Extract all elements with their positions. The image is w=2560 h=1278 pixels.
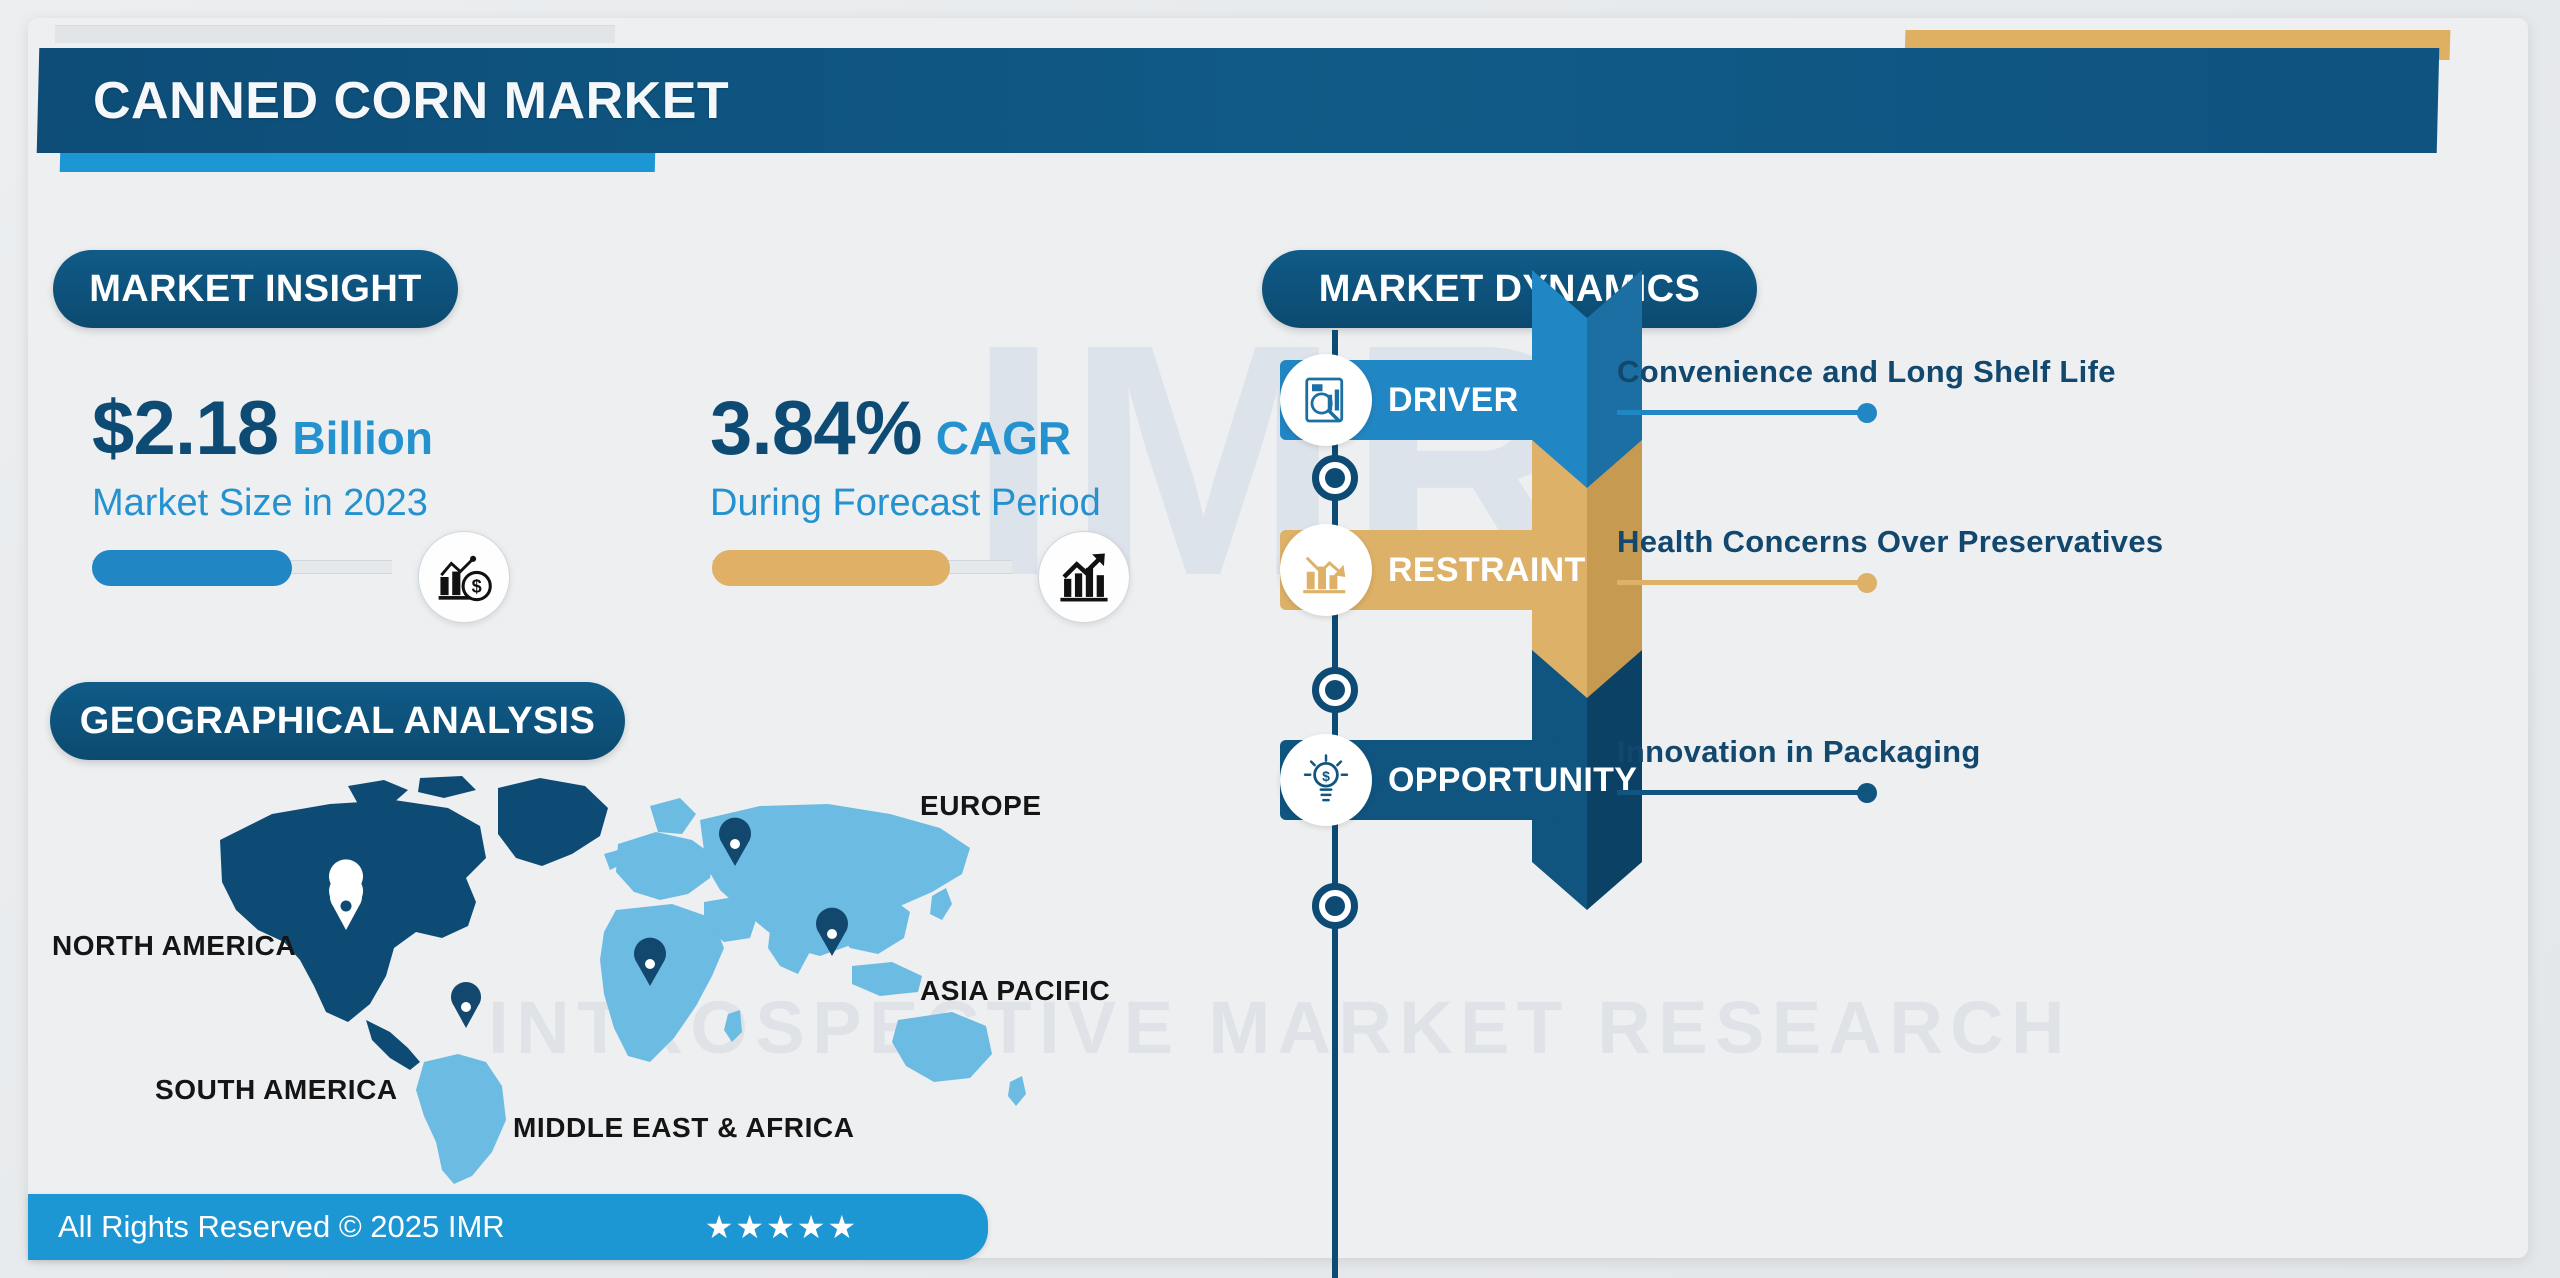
infographic-page: IMR INTROSPECTIVE MARKET RESEARCH CANNED… xyxy=(0,0,2560,1278)
progress-fill xyxy=(712,550,950,586)
callout-dot xyxy=(1857,783,1877,803)
section-label-market-insight: MARKET INSIGHT xyxy=(53,250,458,328)
map-label-europe: EUROPE xyxy=(920,790,1042,822)
tag-restraint: RESTRAINT xyxy=(1280,530,1560,610)
progress-fill xyxy=(92,550,292,586)
map-africa xyxy=(600,904,724,1062)
lightbulb-dollar-icon: $ xyxy=(1280,734,1372,826)
dynamics-row-driver: DRIVER Convenience and Long Shelf Life xyxy=(1262,360,2552,480)
callout-line xyxy=(1617,410,1867,415)
map-greenland xyxy=(498,778,608,866)
map-pin-south-america xyxy=(451,982,481,1028)
growth-arrow-icon xyxy=(1038,531,1130,623)
map-europe xyxy=(616,832,714,900)
callout-driver: Convenience and Long Shelf Life xyxy=(1617,354,2116,415)
bar-chart-dollar-icon: $ xyxy=(418,531,510,623)
tag-driver: DRIVER xyxy=(1280,360,1560,440)
map-label-north-america: NORTH AMERICA xyxy=(52,930,296,962)
map-label-middle-east-africa: MIDDLE EAST & AFRICA xyxy=(513,1112,855,1144)
map-scandinavia xyxy=(650,798,696,834)
stat-market-size: $2.18 Billion Market Size in 2023 xyxy=(92,385,433,525)
section-label-market-dynamics: MARKET DYNAMICS xyxy=(1262,250,1757,328)
map-label-south-america: SOUTH AMERICA xyxy=(155,1074,398,1106)
svg-text:$: $ xyxy=(1322,768,1330,784)
page-title: CANNED CORN MARKET xyxy=(93,71,729,131)
map-central-america xyxy=(366,1020,420,1070)
dynamics-row-restraint: RESTRAINT Health Concerns Over Preservat… xyxy=(1262,530,2552,650)
callout-text: Health Concerns Over Preservatives xyxy=(1617,524,2163,560)
callout-text: Convenience and Long Shelf Life xyxy=(1617,354,2116,390)
callout-line xyxy=(1617,580,1867,585)
map-new-zealand xyxy=(1008,1076,1026,1106)
report-magnifier-icon xyxy=(1280,354,1372,446)
map-madagascar xyxy=(724,1010,742,1042)
stat-caption: Market Size in 2023 xyxy=(92,482,433,525)
footer-bar: All Rights Reserved © 2025 IMR ★★★★★ xyxy=(28,1194,988,1260)
timeline-node xyxy=(1312,667,1358,713)
callout-dot xyxy=(1857,403,1877,423)
callout-line xyxy=(1617,790,1867,795)
declining-bar-chart-icon xyxy=(1280,524,1372,616)
timeline-node xyxy=(1312,883,1358,929)
tag-label: DRIVER xyxy=(1388,381,1519,420)
tag-opportunity: $ xyxy=(1280,740,1560,820)
header-ghost-bar xyxy=(55,25,615,43)
callout-restraint: Health Concerns Over Preservatives xyxy=(1617,524,2163,585)
callout-opportunity: Innovation in Packaging xyxy=(1617,734,1981,795)
progress-track xyxy=(92,560,392,574)
stat-cagr: 3.84% CAGR During Forecast Period xyxy=(710,385,1101,525)
stat-unit: CAGR xyxy=(936,411,1071,465)
section-label-geographical-analysis: GEOGRAPHICAL ANALYSIS xyxy=(50,682,625,760)
map-south-america xyxy=(416,1054,506,1184)
map-australia xyxy=(892,1012,992,1082)
map-label-asia-pacific: ASIA PACIFIC xyxy=(920,975,1110,1007)
stat-caption: During Forecast Period xyxy=(710,482,1101,525)
dynamics-row-opportunity: $ xyxy=(1262,740,2552,860)
map-arctic-islands xyxy=(348,776,476,804)
callout-text: Innovation in Packaging xyxy=(1617,734,1981,770)
stat-unit: Billion xyxy=(292,411,433,465)
market-dynamics-panel: DRIVER Convenience and Long Shelf Life xyxy=(1262,330,2552,1278)
svg-text:$: $ xyxy=(472,576,482,596)
tag-label: OPPORTUNITY xyxy=(1388,761,1637,800)
star-rating: ★★★★★ xyxy=(705,1208,858,1246)
header-banner: CANNED CORN MARKET xyxy=(37,48,2440,153)
map-japan xyxy=(930,888,952,920)
progress-market-size xyxy=(92,560,392,574)
tag-label: RESTRAINT xyxy=(1388,551,1586,590)
copyright-text: All Rights Reserved © 2025 IMR xyxy=(58,1209,505,1245)
stat-value: $2.18 xyxy=(92,385,278,472)
header-underline-bar xyxy=(60,150,656,172)
progress-cagr xyxy=(712,560,1012,574)
callout-dot xyxy=(1857,573,1877,593)
stat-value: 3.84% xyxy=(710,385,922,472)
progress-track xyxy=(712,560,1012,574)
map-southeast-asia xyxy=(852,962,922,996)
